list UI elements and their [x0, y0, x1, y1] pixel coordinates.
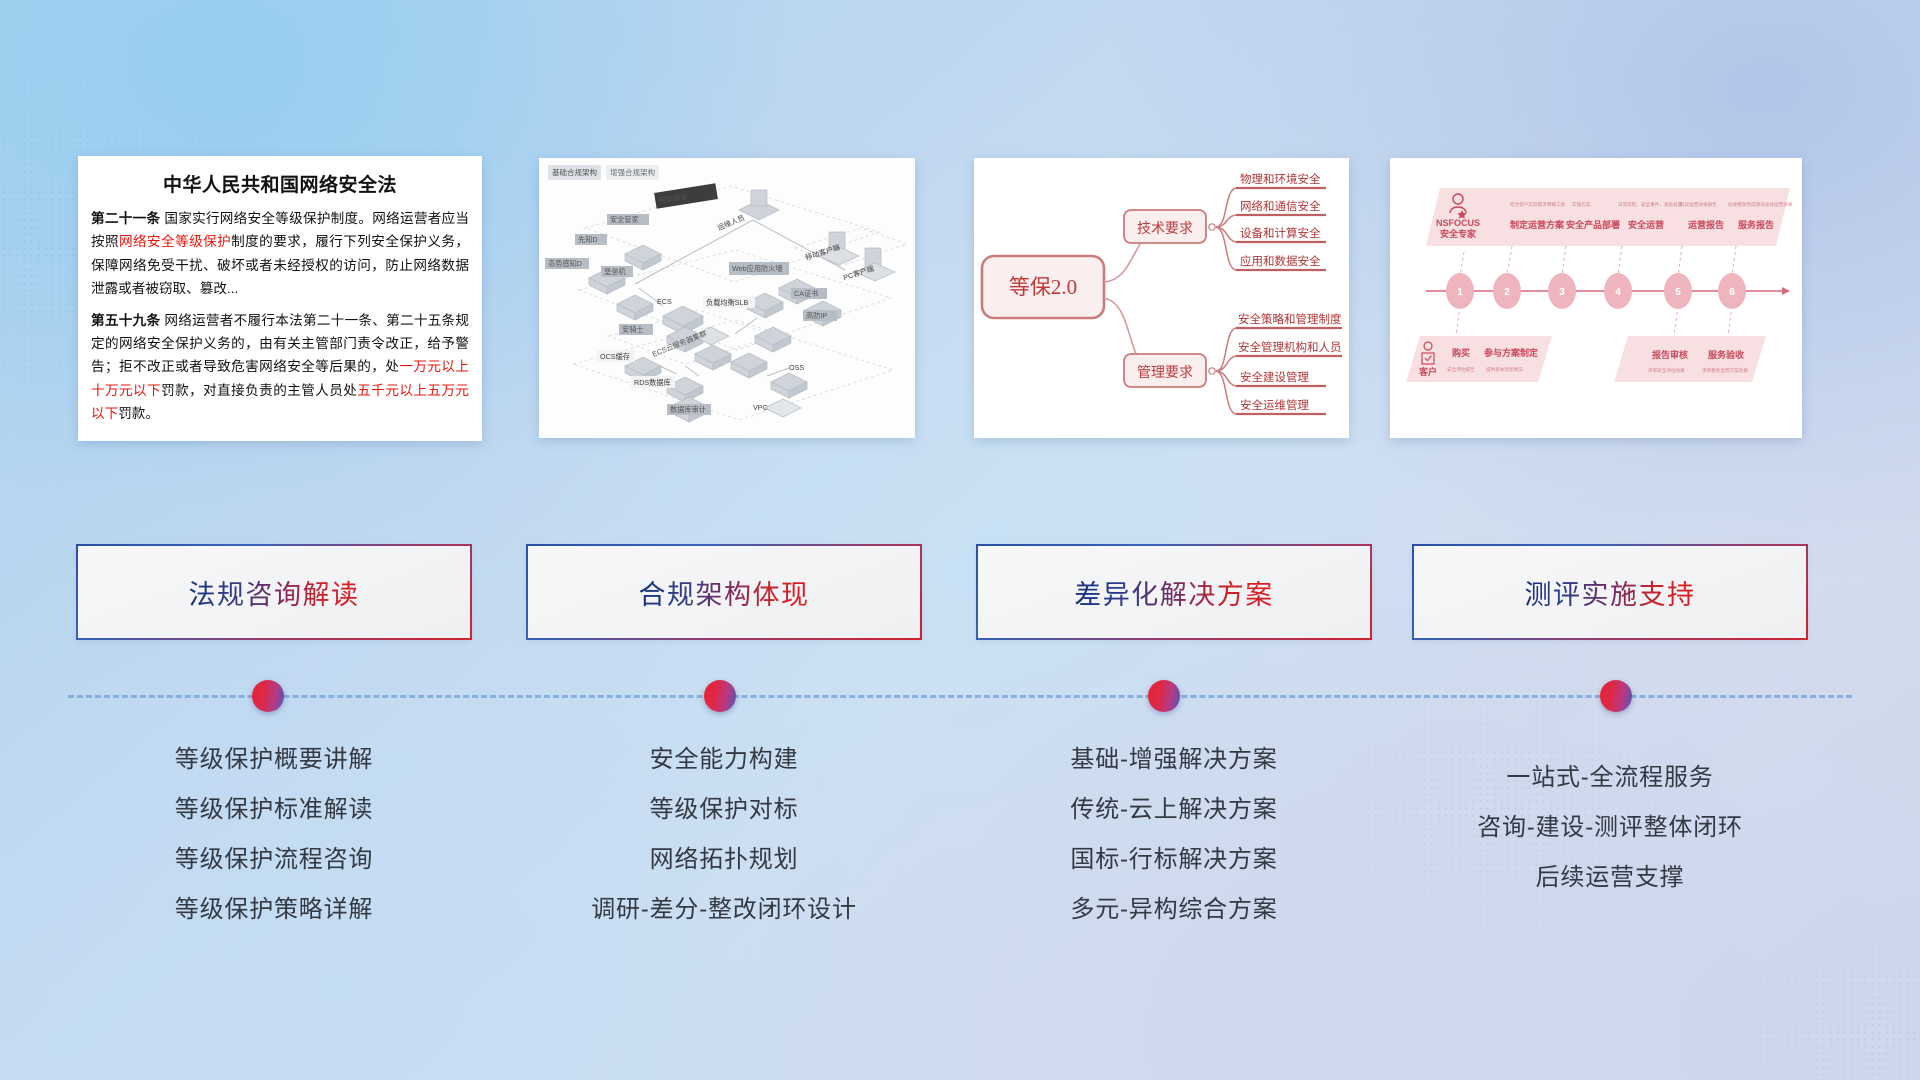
- section-title-3: 差异化解决方案: [1074, 573, 1274, 612]
- step-5-title: 运营报告: [1688, 219, 1724, 230]
- list-item: 基础-增强解决方案: [978, 735, 1370, 785]
- arch-label-vpc: VPC: [753, 403, 768, 412]
- list-item: 等级保护对标: [528, 785, 920, 835]
- arch-label-waf: Web应用防火墙: [732, 264, 783, 273]
- law-article-2: 第五十九条: [91, 313, 160, 328]
- law-seg-highlight: 网络安全等级保护: [119, 234, 231, 249]
- list-item: 多元-异构综合方案: [978, 885, 1370, 935]
- step-2-title: 制定运营方案: [1510, 219, 1565, 230]
- step-4-sub: 日常巡检、安全事件、高危处置: [1618, 201, 1683, 208]
- step-6-number: 6: [1729, 287, 1735, 298]
- architecture-svg: 网站安全 安全管家 先知D 态势感知D 堡垒机 运维人员 Web应用防火墙 负载…: [539, 158, 915, 438]
- section-items-1: 等级保护概要讲解 等级保护标准解读 等级保护流程咨询 等级保护策略详解: [78, 735, 470, 935]
- law-seg: 罚款，对直接负责的主管人员处: [161, 383, 357, 398]
- step-1-number: 1: [1457, 287, 1463, 298]
- section-title-box-1[interactable]: 法规咨询解读: [78, 546, 470, 638]
- cust-step-2-title: 参与方案制定: [1484, 347, 1539, 358]
- list-item: 等级保护策略详解: [78, 885, 470, 935]
- section-title-box-3[interactable]: 差异化解决方案: [978, 546, 1370, 638]
- list-item: 等级保护概要讲解: [78, 735, 470, 785]
- timeline-dashed-axis: [68, 695, 1852, 698]
- arch-label-pc-client: PC客户端: [842, 264, 875, 282]
- cards-row: 中华人民共和国网络安全法 第二十一条 国家实行网络安全等级保护制度。网络运营者应…: [0, 150, 1920, 445]
- arch-label-ecs: ECS: [657, 297, 672, 306]
- law-paragraph-2: 第五十九条 网络运营者不履行本法第二十一条、第二十五条规定的网络安全保护义务的，…: [91, 309, 469, 426]
- cust-step-1-title: 购买: [1452, 347, 1470, 358]
- section-titles: 法规咨询解读 合规架构体现 差异化解决方案 测评实施支持: [0, 546, 1920, 642]
- section-title-box-4[interactable]: 测评实施支持: [1414, 546, 1806, 638]
- timeline-dot-1: [252, 680, 284, 712]
- step-2-sub: 结合客户实际需求明确工具: [1510, 201, 1566, 208]
- list-item: 安全能力构建: [528, 735, 920, 785]
- step-3-title: 安全产品部署: [1566, 219, 1620, 230]
- step-4-number: 4: [1615, 287, 1621, 298]
- mindmap-leaf-1-2: 安全建设管理: [1240, 370, 1309, 384]
- list-item: 等级保护标准解读: [78, 785, 470, 835]
- section-items-2: 安全能力构建 等级保护对标 网络拓扑规划 调研-差分-整改闭环设计: [528, 735, 920, 935]
- section-items-3: 基础-增强解决方案 传统-云上解决方案 国标-行标解决方案 多元-异构综合方案: [978, 735, 1370, 935]
- law-article-1: 第二十一条: [91, 211, 160, 226]
- arch-label-rds: RDS数据库: [634, 378, 671, 387]
- arch-label-ops-staff: 运维人员: [716, 213, 746, 232]
- customer-label: 客户: [1418, 366, 1437, 377]
- cust-step-2-sub: 提供基本现状情况: [1486, 366, 1523, 373]
- list-item: 等级保护流程咨询: [78, 835, 470, 885]
- list-item: 后续运营支撑: [1414, 853, 1806, 903]
- list-item: 一站式-全流程服务: [1414, 753, 1806, 803]
- section-title-4: 测评实施支持: [1525, 573, 1696, 612]
- law-seg: 罚款。: [118, 406, 159, 421]
- section-items-4: 一站式-全流程服务 咨询-建设-测评整体闭环 后续运营支撑: [1414, 753, 1806, 903]
- law-card-body: 第二十一条 国家实行网络安全等级保护制度。网络运营者应当按照网络安全等级保护制度…: [78, 207, 482, 425]
- mindmap-root-label: 等保2.0: [1009, 275, 1077, 299]
- list-item: 咨询-建设-测评整体闭环: [1414, 803, 1806, 853]
- arch-label-ocs: OCS缓存: [600, 352, 630, 361]
- step-6-title: 服务报告: [1738, 219, 1774, 230]
- law-card: 中华人民共和国网络安全法 第二十一条 国家实行网络安全等级保护制度。网络运营者应…: [78, 156, 482, 441]
- cust-step-1-sub: 安全评估报告: [1447, 366, 1475, 373]
- step-3-number: 3: [1559, 287, 1565, 298]
- law-paragraph-1: 第二十一条 国家实行网络安全等级保护制度。网络运营者应当按照网络安全等级保护制度…: [91, 207, 469, 301]
- timeline-svg: NSFOCUS 安全专家 结合客户实际需求明确工具 制定运营方案 实施方案 安全…: [1390, 158, 1802, 438]
- law-card-title: 中华人民共和国网络安全法: [78, 170, 482, 197]
- arch-label-security-butler: 安全管家: [610, 215, 639, 224]
- arch-label-bastion-host: 堡垒机: [604, 267, 626, 276]
- architecture-card: 基础合规架构 增强合规架构: [539, 158, 915, 438]
- nsfocus-brand-sub: 安全专家: [1440, 228, 1477, 239]
- arch-label-situational-awareness: 态势感知D: [548, 259, 582, 268]
- step-3-sub: 实施方案: [1572, 201, 1591, 208]
- section-title-1: 法规咨询解读: [189, 573, 360, 612]
- list-item: 国标-行标解决方案: [978, 835, 1370, 885]
- architecture-diagram: 基础合规架构 增强合规架构: [539, 158, 915, 438]
- arch-label-anqishi: 安骑士: [622, 325, 644, 334]
- mindmap-branch-0-label: 技术要求: [1137, 221, 1193, 237]
- arch-label-anti-ddos: 高防IP: [806, 311, 827, 320]
- section-title-box-2[interactable]: 合规架构体现: [528, 546, 920, 638]
- list-item: 网络拓扑规划: [528, 835, 920, 885]
- mindmap-leaf-1-0: 安全策略和管理制度: [1238, 312, 1342, 326]
- mindmap-leaf-0-1: 网络和通信安全: [1240, 199, 1321, 213]
- nsfocus-brand: NSFOCUS: [1436, 218, 1480, 228]
- timeline-dot-2: [704, 680, 736, 712]
- timeline-dot-3: [1148, 680, 1180, 712]
- arch-label-ca: CA证书: [794, 289, 818, 298]
- step-4-title: 安全运营: [1628, 219, 1664, 230]
- arch-label-slb: 负载均衡SLB: [706, 298, 749, 307]
- arch-label-db-audit: 数据库审计: [670, 405, 706, 414]
- timeline-card: NSFOCUS 安全专家 结合客户实际需求明确工具 制定运营方案 实施方案 安全…: [1390, 158, 1802, 438]
- arch-label-xianzhi: 先知D: [578, 235, 598, 244]
- mindmap-svg: 等保2.0 技术要求 管理要求: [974, 158, 1349, 438]
- cust-step-3-sub: 评审安全评估效果: [1648, 367, 1685, 374]
- mindmap-branch-1-label: 管理要求: [1137, 365, 1193, 381]
- step-6-sub: 验收整改完成情况总体运营效果: [1728, 201, 1793, 208]
- list-item: 调研-差分-整改闭环设计: [528, 885, 920, 935]
- cust-step-4-sub: 评审整改运营方案效果: [1702, 367, 1748, 374]
- mindmap-card: 等保2.0 技术要求 管理要求: [974, 158, 1349, 438]
- timeline-dot-4: [1600, 680, 1632, 712]
- cust-step-4-title: 服务验收: [1708, 349, 1744, 360]
- step-5-number: 5: [1675, 287, 1681, 298]
- mindmap: 等保2.0 技术要求 管理要求: [974, 158, 1349, 438]
- section-title-2: 合规架构体现: [639, 573, 810, 612]
- mindmap-leaf-0-2: 设备和计算安全: [1240, 226, 1321, 240]
- step-5-sub: 阶段运营效果报告: [1680, 201, 1717, 208]
- step-2-number: 2: [1504, 287, 1510, 298]
- mindmap-leaf-0-0: 物理和环境安全: [1240, 172, 1321, 186]
- list-item: 传统-云上解决方案: [978, 785, 1370, 835]
- mindmap-leaf-1-3: 安全运维管理: [1240, 398, 1309, 412]
- nsfocus-timeline: NSFOCUS 安全专家 结合客户实际需求明确工具 制定运营方案 实施方案 安全…: [1390, 158, 1802, 438]
- arch-label-oss: OSS: [789, 363, 804, 372]
- cust-step-3-title: 报告审核: [1652, 349, 1688, 360]
- mindmap-leaf-0-3: 应用和数据安全: [1240, 254, 1321, 268]
- mindmap-leaf-1-1: 安全管理机构和人员: [1238, 340, 1342, 354]
